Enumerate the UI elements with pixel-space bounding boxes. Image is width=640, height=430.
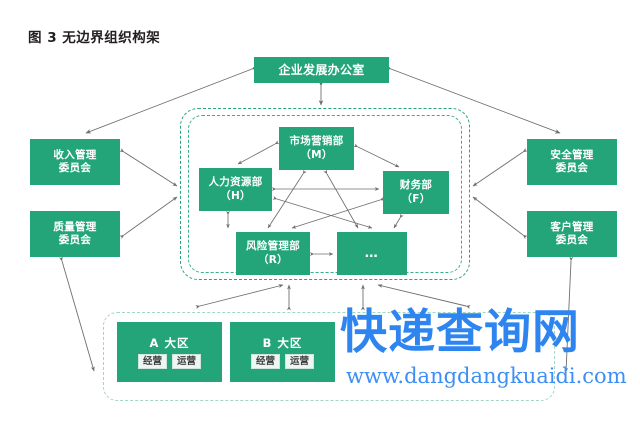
region-tag-operation-run[interactable]: 运营 <box>172 354 201 370</box>
node-human-resources-department[interactable]: 人力资源部 （H） <box>199 168 272 211</box>
region-tag-group: 经营 运营 <box>251 354 314 370</box>
node-label-line2: 委员会 <box>59 162 91 175</box>
region-tag-operation-run[interactable]: 运营 <box>285 354 314 370</box>
node-risk-management-department[interactable]: 风险管理部 （R） <box>236 232 310 275</box>
region-tag-operation-business[interactable]: 经营 <box>251 354 280 370</box>
node-marketing-department[interactable]: 市场营销部 （M） <box>279 127 354 170</box>
node-label-line1: 客户管理 <box>550 221 593 234</box>
node-label-line1: 收入管理 <box>53 149 96 162</box>
node-revenue-management-committee[interactable]: 收入管理 委员会 <box>30 139 120 185</box>
node-label-line2: （R） <box>258 254 288 267</box>
node-label-line2: （F） <box>401 193 430 206</box>
region-title: A 大区 <box>150 335 190 351</box>
diagram-canvas: 图 3 无边界组织构架 <box>0 0 640 430</box>
region-b[interactable]: B 大区 经营 运营 <box>230 322 335 382</box>
node-enterprise-development-office[interactable]: 企业发展办公室 <box>254 57 389 83</box>
ellipsis-icon: … <box>365 247 380 260</box>
node-label-line2: 委员会 <box>556 234 588 247</box>
node-label-line1: 质量管理 <box>53 221 96 234</box>
region-title: B 大区 <box>263 335 303 351</box>
node-finance-department[interactable]: 财务部 （F） <box>383 171 449 214</box>
node-label-line2: （H） <box>220 190 251 203</box>
node-customer-management-committee[interactable]: 客户管理 委员会 <box>527 211 617 257</box>
node-quality-management-committee[interactable]: 质量管理 委员会 <box>30 211 120 257</box>
node-label-line2: 委员会 <box>556 162 588 175</box>
node-label-line1: 人力资源部 <box>209 176 263 189</box>
node-label-line1: 安全管理 <box>550 149 593 162</box>
node-label-line2: 委员会 <box>59 234 91 247</box>
node-label: 企业发展办公室 <box>278 63 364 78</box>
region-a[interactable]: A 大区 经营 运营 <box>117 322 222 382</box>
node-label-line1: 风险管理部 <box>246 240 300 253</box>
node-label-line1: 市场营销部 <box>290 135 344 148</box>
node-label-line2: （M） <box>300 149 332 162</box>
node-other-departments-placeholder[interactable]: … <box>337 232 407 275</box>
region-tag-group: 经营 运营 <box>138 354 201 370</box>
region-tag-operation-business[interactable]: 经营 <box>138 354 167 370</box>
node-label-line1: 财务部 <box>400 179 432 192</box>
node-security-management-committee[interactable]: 安全管理 委员会 <box>527 139 617 185</box>
